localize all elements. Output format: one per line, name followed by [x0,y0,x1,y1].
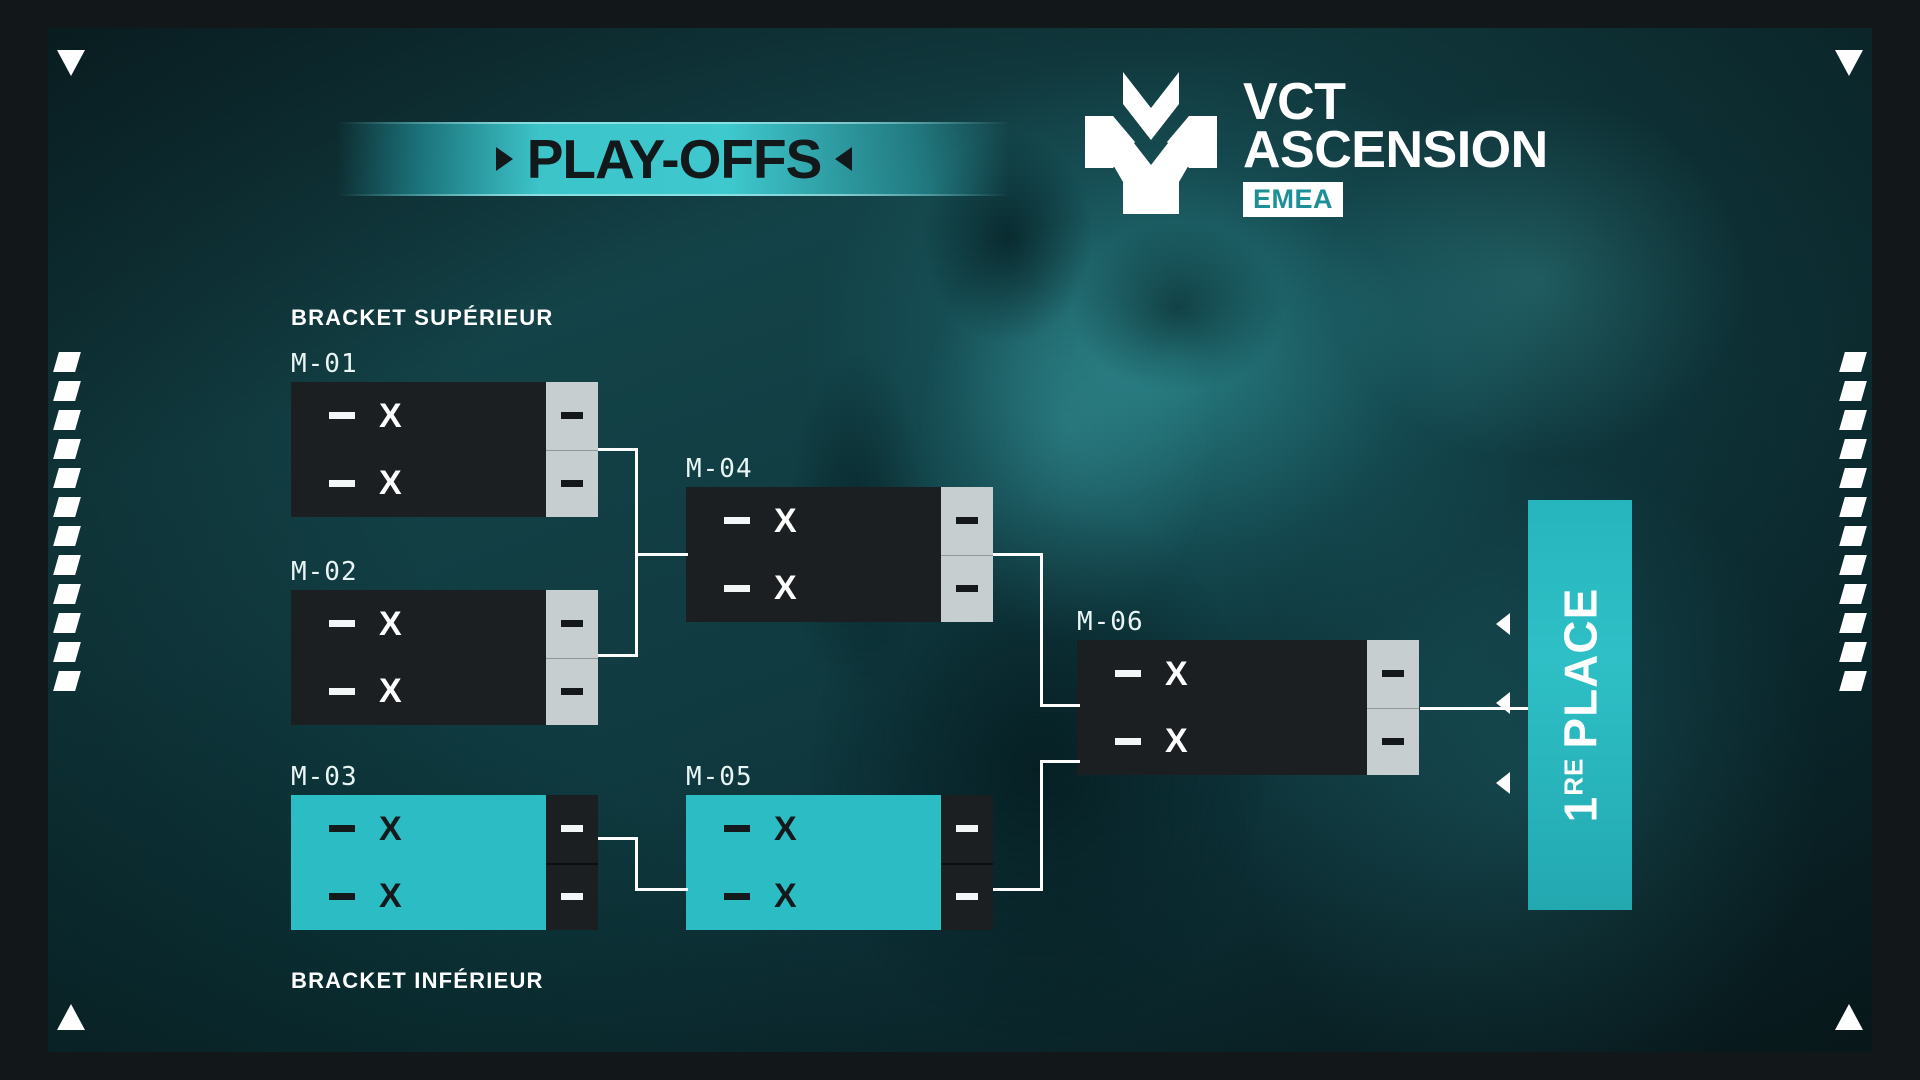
team-name: X [774,812,797,846]
match-row[interactable]: X [291,795,546,863]
connector-into-m05 [635,888,688,891]
left-dash-strip [56,352,78,691]
dash-mark [1839,671,1867,691]
match-row[interactable]: X [291,590,546,658]
team-name: X [774,571,797,605]
connector-m01-out [598,448,638,451]
match-row[interactable]: X [686,863,941,931]
dash-mark [53,468,81,488]
vct-ascension-logo: VCT ASCENSION EMEA [1085,72,1548,217]
match-box-m06[interactable]: X X [1077,640,1419,775]
logo-line-vct: VCT [1243,78,1548,126]
match-label-m03: M-03 [291,762,358,792]
match-row[interactable]: X [291,382,546,450]
dash-mark [1839,555,1867,575]
match-label-m02: M-02 [291,557,358,587]
score-dash-icon [956,825,978,832]
match-box-m05[interactable]: X X [686,795,993,930]
score-cell [941,487,993,555]
dash-mark [1839,613,1867,633]
logo-region-label: EMEA [1253,184,1333,214]
dash-mark [53,584,81,604]
score-panel [941,795,993,930]
seed-dash-icon [329,893,355,900]
seed-dash-icon [329,412,355,419]
match-row[interactable]: X [291,863,546,931]
lower-bracket-heading: BRACKET INFÉRIEUR [291,968,544,994]
score-cell [1367,708,1419,776]
first-place-ordinal-number: 1 [1553,796,1607,823]
dash-mark [53,555,81,575]
chevron-down-icon [57,50,85,76]
chevron-left-icon [1496,692,1510,714]
dash-mark [53,410,81,430]
dash-mark [1839,381,1867,401]
seed-dash-icon [329,825,355,832]
score-dash-icon [956,585,978,592]
dash-mark [53,439,81,459]
upper-bracket-heading: BRACKET SUPÉRIEUR [291,305,553,331]
score-cell [941,555,993,623]
connector-m03-vertical [635,837,638,891]
dash-mark [1839,497,1867,517]
match-box-m01[interactable]: X X [291,382,598,517]
match-box-m03[interactable]: X X [291,795,598,930]
seed-dash-icon [329,688,355,695]
score-dash-icon [956,517,978,524]
score-panel [1367,640,1419,775]
score-dash-icon [1382,670,1404,677]
score-dash-icon [1382,738,1404,745]
team-name: X [774,879,797,913]
chevron-left-icon [1496,772,1510,794]
team-name: X [774,504,797,538]
first-place-word: PLACE [1553,588,1607,749]
seed-dash-icon [1115,738,1141,745]
score-dash-icon [561,893,583,900]
match-row[interactable]: X [686,487,941,555]
connector-into-m06-top [1040,704,1080,707]
connector-m02-out [598,654,638,657]
score-dash-icon [561,825,583,832]
team-name: X [379,812,402,846]
team-name: X [379,466,402,500]
match-row[interactable]: X [686,555,941,623]
chevron-down-icon [1835,50,1863,76]
dash-mark [53,352,81,372]
chevron-left-icon [1496,613,1510,635]
connector-m04-out [993,553,1043,556]
match-row[interactable]: X [1077,640,1367,708]
seed-dash-icon [724,893,750,900]
score-cell [546,382,598,450]
poster-stage: PLAY-OFFS VCT ASCENSION EMEA BRACKET SUP… [0,0,1920,1080]
connector-m05-out [993,888,1043,891]
score-dash-icon [561,412,583,419]
first-place-label: 1REPLACE [1553,588,1607,823]
dash-mark [1839,642,1867,662]
score-dash-icon [956,893,978,900]
team-name: X [379,607,402,641]
score-cell [941,795,993,863]
score-cell [546,450,598,518]
dash-mark [1839,584,1867,604]
score-panel [546,382,598,517]
connector-m04-vertical [1040,553,1043,706]
score-dash-icon [561,620,583,627]
vct-x-starburst-icon [1085,72,1217,214]
dash-mark [53,526,81,546]
right-dash-strip [1842,352,1864,691]
seed-dash-icon [724,825,750,832]
team-name: X [379,879,402,913]
first-place-panel: 1REPLACE [1528,500,1632,910]
seed-dash-icon [1115,670,1141,677]
score-cell [546,795,598,863]
score-cell [546,590,598,658]
seed-dash-icon [724,585,750,592]
score-cell [941,863,993,931]
score-cell [546,863,598,931]
page-title: PLAY-OFFS [527,132,822,187]
score-panel [941,487,993,622]
score-panel [546,590,598,725]
match-label-m01: M-01 [291,349,358,379]
logo-region-badge: EMEA [1243,182,1343,217]
team-name: X [1165,724,1188,758]
match-label-m04: M-04 [686,454,753,484]
score-panel [546,795,598,930]
connector-m06-to-first-place [1420,707,1530,710]
connector-m03-out [598,837,638,840]
dash-mark [53,381,81,401]
match-label-m06: M-06 [1077,607,1144,637]
dash-mark [1839,410,1867,430]
dash-mark [1839,352,1867,372]
seed-dash-icon [329,620,355,627]
match-row[interactable]: X [291,658,546,726]
first-place-ordinal-suffix: RE [1558,758,1589,796]
match-box-m02[interactable]: X X [291,590,598,725]
dash-mark [1839,526,1867,546]
dash-mark [53,642,81,662]
triangle-left-icon [835,147,852,171]
page-title-banner: PLAY-OFFS [338,122,1010,196]
team-name: X [379,399,402,433]
score-cell [546,658,598,726]
connector-into-m04 [635,553,688,556]
team-name: X [1165,657,1188,691]
match-row[interactable]: X [291,450,546,518]
chevron-up-icon [1835,1004,1863,1030]
score-dash-icon [561,480,583,487]
connector-m05-vertical [1040,760,1043,891]
match-label-m05: M-05 [686,762,753,792]
match-row[interactable]: X [686,795,941,863]
logo-line-ascension: ASCENSION [1243,126,1548,174]
score-dash-icon [561,688,583,695]
score-cell [1367,640,1419,708]
dash-mark [1839,468,1867,488]
dash-mark [53,613,81,633]
seed-dash-icon [724,517,750,524]
seed-dash-icon [329,480,355,487]
team-name: X [379,674,402,708]
dash-mark [53,671,81,691]
match-box-m04[interactable]: X X [686,487,993,622]
connector-into-m06-bottom [1040,760,1080,763]
dash-mark [53,497,81,517]
chevron-up-icon [57,1004,85,1030]
triangle-right-icon [496,147,513,171]
dash-mark [1839,439,1867,459]
match-row[interactable]: X [1077,708,1367,776]
